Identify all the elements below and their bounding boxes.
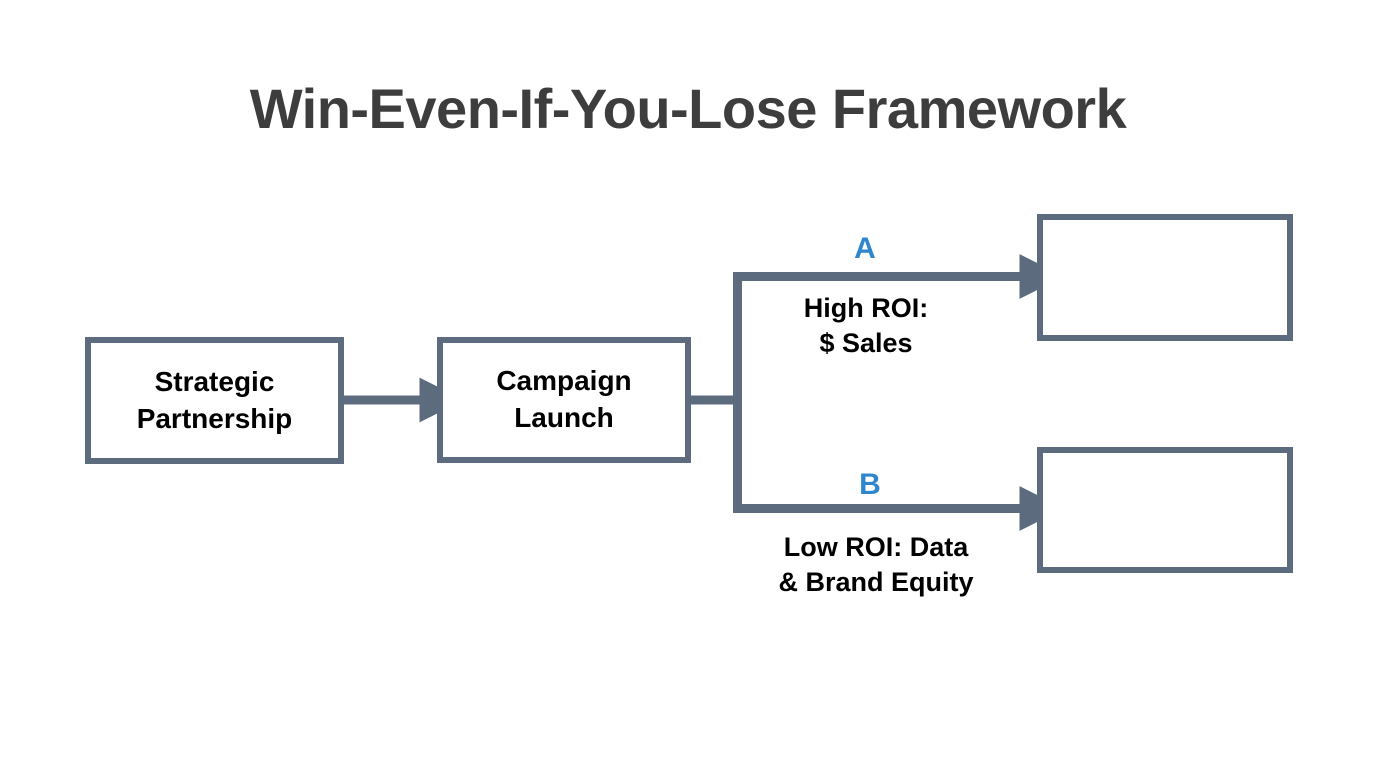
node-outcome-b[interactable] <box>1037 447 1293 573</box>
branch-letter-a: A <box>790 234 940 264</box>
node-campaign-launch[interactable]: Campaign Launch <box>437 337 691 463</box>
branch-caption-b-line-1: Low ROI: Data <box>726 530 1026 565</box>
branch-caption-a: High ROI: $ Sales <box>742 291 990 361</box>
page-title: Win-Even-If-You-Lose Framework <box>0 78 1376 140</box>
branch-caption-b-line-2: & Brand Equity <box>726 565 1026 600</box>
node-label-campaign-launch: Campaign Launch <box>496 363 631 437</box>
branch-caption-a-line-1: High ROI: <box>742 291 990 326</box>
node-label-line-1: Strategic <box>137 364 293 401</box>
branch-caption-a-line-2: $ Sales <box>742 326 990 361</box>
node-label-line-2: Partnership <box>137 401 293 438</box>
node-label-line-2: Launch <box>496 400 631 437</box>
node-label-line-1: Campaign <box>496 363 631 400</box>
node-outcome-a[interactable] <box>1037 214 1293 341</box>
branch-letter-b: B <box>795 470 945 500</box>
node-strategic-partnership[interactable]: Strategic Partnership <box>85 337 344 464</box>
diagram-canvas: Win-Even-If-You-Lose Framework Strategic… <box>0 0 1376 768</box>
node-label-strategic-partnership: Strategic Partnership <box>137 364 293 438</box>
content-layer: Win-Even-If-You-Lose Framework Strategic… <box>0 0 1376 768</box>
branch-caption-b: Low ROI: Data & Brand Equity <box>726 530 1026 600</box>
